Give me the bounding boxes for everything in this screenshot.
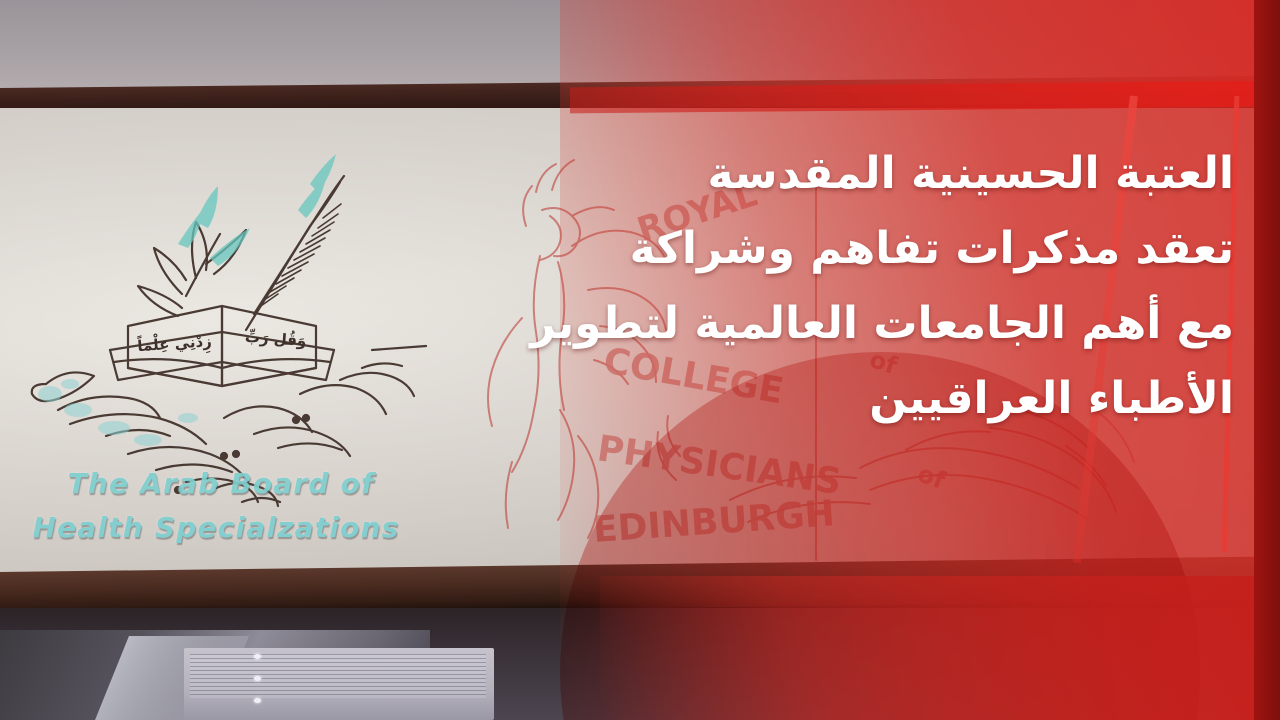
headline-line-4: الأطباء العراقيين (514, 361, 1234, 436)
ac-indicator-light (254, 676, 261, 681)
headline-line-1: العتبة الحسينية المقدسة (514, 136, 1234, 211)
headline-line-3: مع أهم الجامعات العالمية لتطوير (514, 286, 1234, 361)
red-right-edge (1254, 0, 1280, 720)
air-conditioner-louvers (190, 654, 486, 698)
headline: العتبة الحسينية المقدسة تعقد مذكرات تفاه… (514, 136, 1234, 436)
svg-text:وَقُل رَبِّ: وَقُل رَبِّ (244, 327, 307, 350)
logo-english-line1: The Arab Board of (68, 467, 375, 500)
headline-line-2: تعقد مذكرات تفاهم وشراكة (514, 211, 1234, 286)
arab-board-logo-english: The Arab Board of Health Specialzations (6, 462, 436, 550)
ac-indicator-light (254, 654, 261, 659)
red-overlay-lower (600, 576, 1280, 720)
logo-english-line2: Health Specialzations (32, 511, 399, 544)
ac-indicator-light (254, 698, 261, 703)
svg-text:زِدْنِي عِلْماً: زِدْنِي عِلْماً (136, 329, 212, 359)
poster-image: زِدْنِي عِلْماً وَقُل رَبِّ The Arab Boa… (0, 0, 1280, 720)
